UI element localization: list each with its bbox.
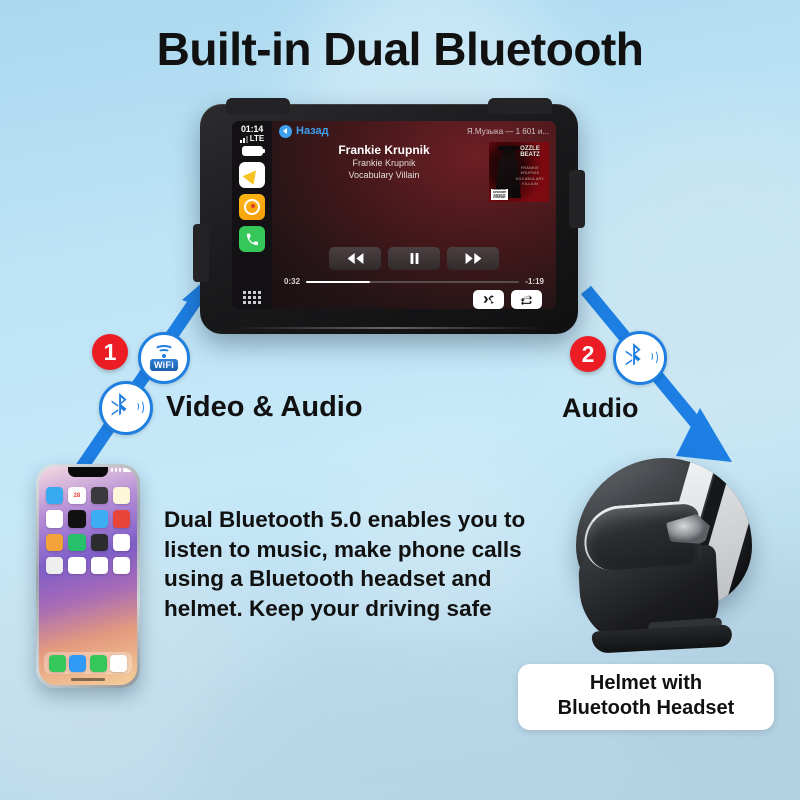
progress-bar[interactable] <box>306 281 519 283</box>
pause-icon <box>405 252 424 265</box>
description-text: Dual Bluetooth 5.0 enables you to listen… <box>164 505 574 624</box>
repeat-button[interactable] <box>511 290 542 309</box>
music-dial-icon <box>244 199 260 215</box>
bluetooth-icon <box>109 393 133 423</box>
carplay-app-phone[interactable] <box>239 226 265 252</box>
source-label: Я.Музыка — 1 601 и... <box>467 127 549 136</box>
album-artwork: OZZLE BEATZ FRANKIE KRUPNIK VOCABULARY V… <box>489 142 549 202</box>
phone-dock-icon-safari[interactable] <box>69 655 86 672</box>
track-title: Frankie Krupnik <box>279 143 489 158</box>
bluetooth-sound-waves <box>648 352 658 365</box>
shuffle-button[interactable] <box>473 290 504 309</box>
carplay-now-playing-screen: Назад Я.Музыка — 1 601 и... Frankie Krup… <box>272 121 556 309</box>
repeat-icon <box>520 294 533 305</box>
battery-icon <box>242 146 263 156</box>
callout-2-label: Audio <box>562 393 638 424</box>
phone-app-icon[interactable] <box>68 510 85 527</box>
phone-app-icon[interactable] <box>113 534 130 551</box>
progress-row[interactable]: 0:32 -1:19 <box>272 270 556 286</box>
phone-app-icon[interactable] <box>113 557 130 574</box>
track-artist: Frankie Krupnik <box>279 158 489 170</box>
app-grid-icon[interactable] <box>243 291 261 304</box>
phone-screen[interactable]: 28 <box>39 467 137 685</box>
tablet-screen[interactable]: 01:14 LTE <box>232 121 556 309</box>
bluetooth-audio-icon <box>623 343 658 373</box>
phone-app-icon[interactable] <box>46 557 63 574</box>
phone-icon <box>245 232 260 247</box>
album-art-subtitle: FRANKIE KRUPNIK VOCABULARY VILLAIN <box>513 166 547 188</box>
phone-app-grid: 28 <box>46 487 130 574</box>
fast-forward-button[interactable] <box>447 247 499 270</box>
elapsed-time: 0:32 <box>284 277 300 286</box>
track-metadata: Frankie Krupnik Frankie Krupnik Vocabula… <box>279 141 489 247</box>
track-album: Vocabulary Villain <box>279 170 489 182</box>
phone-status-bar <box>111 468 131 472</box>
phone-app-icon[interactable] <box>91 534 108 551</box>
phone-app-icon[interactable] <box>91 487 108 504</box>
now-playing-info: Frankie Krupnik Frankie Krupnik Vocabula… <box>272 141 556 247</box>
carplay-app-maps[interactable] <box>239 162 265 188</box>
album-art-title: OZZLE BEATZ <box>513 146 547 159</box>
tablet-top-tab <box>488 98 552 114</box>
transport-controls <box>272 247 556 270</box>
status-signal: LTE <box>240 134 265 143</box>
smartphone-mockup: 28 <box>36 464 140 688</box>
phone-app-icon[interactable] <box>46 534 63 551</box>
rewind-icon <box>346 252 365 265</box>
back-button[interactable]: Назад <box>279 125 329 138</box>
navigation-arrow-icon <box>242 166 261 185</box>
bluetooth-audio-icon <box>109 393 144 423</box>
phone-app-icon[interactable] <box>46 510 63 527</box>
phone-frame: 28 <box>36 464 140 688</box>
rewind-button[interactable] <box>329 247 381 270</box>
carplay-sidebar: 01:14 LTE <box>232 121 272 309</box>
motorcycle-helmet <box>562 452 762 664</box>
phone-dock-icon-music[interactable] <box>110 655 127 672</box>
phone-dock <box>44 652 132 674</box>
phone-home-indicator[interactable] <box>71 678 105 681</box>
signal-bars-icon <box>240 136 248 143</box>
phone-battery-icon <box>123 468 131 472</box>
wifi-icon: WiFi <box>145 345 183 371</box>
tablet-bottom-seam <box>234 327 544 329</box>
phone-notch <box>68 467 108 477</box>
bluetooth-icon <box>623 343 647 373</box>
wifi-label: WiFi <box>150 359 178 371</box>
back-button-label: Назад <box>296 125 329 137</box>
tablet-side-button[interactable] <box>193 224 209 282</box>
playback-mode-controls <box>272 286 556 309</box>
phone-app-icon[interactable] <box>113 510 130 527</box>
helmet-caption: Helmet with Bluetooth Headset <box>518 664 774 730</box>
carplay-app-music[interactable] <box>239 194 265 220</box>
pause-button[interactable] <box>388 247 440 270</box>
remaining-time: -1:19 <box>525 277 544 286</box>
phone-dock-icon-phone[interactable] <box>49 655 66 672</box>
callout-1-label: Video & Audio <box>166 391 363 424</box>
status-network-label: LTE <box>250 134 265 143</box>
shuffle-icon <box>482 294 495 305</box>
now-playing-topbar: Назад Я.Музыка — 1 601 и... <box>272 121 556 141</box>
wifi-waves <box>153 345 175 358</box>
tablet-device: 01:14 LTE <box>200 104 578 334</box>
callout-badge-1: 1 <box>92 334 128 370</box>
fast-forward-icon <box>464 252 483 265</box>
phone-app-icon[interactable] <box>68 534 85 551</box>
bluetooth-icon-bubble-1 <box>99 381 153 435</box>
tablet-top-tab <box>226 98 290 114</box>
bluetooth-icon-bubble-2 <box>613 331 667 385</box>
parental-advisory-label: PARENTAL ADVISORY EXPLICIT CONTENT <box>491 189 508 200</box>
phone-app-icon[interactable] <box>91 557 108 574</box>
bluetooth-sound-waves <box>134 402 144 415</box>
wifi-icon-bubble: WiFi <box>138 332 190 384</box>
phone-app-icon[interactable] <box>91 510 108 527</box>
phone-app-icon[interactable] <box>46 487 63 504</box>
callout-badge-2: 2 <box>570 336 606 372</box>
tablet-side-button[interactable] <box>569 170 585 228</box>
phone-app-icon-calendar[interactable]: 28 <box>68 487 85 504</box>
status-time: 01:14 <box>241 124 263 134</box>
phone-dock-icon-messages[interactable] <box>90 655 107 672</box>
helmet-caption-line-2: Bluetooth Headset <box>524 696 768 721</box>
phone-app-icon[interactable] <box>68 557 85 574</box>
helmet-caption-line-1: Helmet with <box>524 671 768 696</box>
chevron-left-circle-icon <box>279 125 292 138</box>
phone-app-icon[interactable] <box>113 487 130 504</box>
